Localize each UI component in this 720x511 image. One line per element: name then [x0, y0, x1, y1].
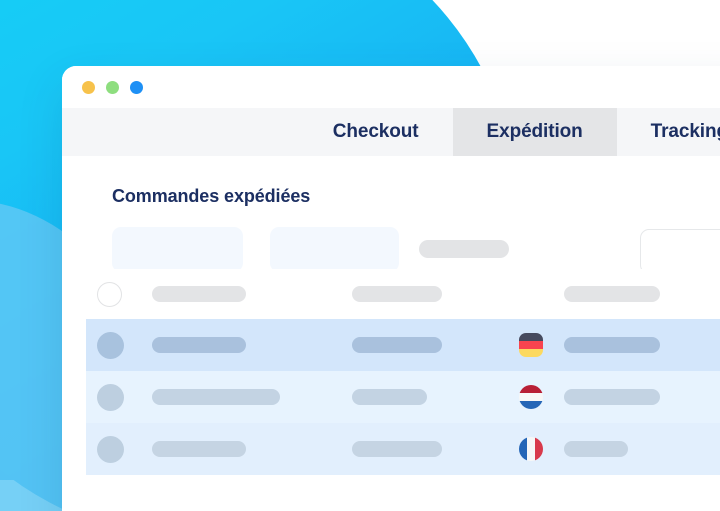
header-cell-c: [564, 286, 720, 302]
maximize-dot[interactable]: [106, 81, 119, 94]
row-cell-c: [564, 337, 720, 353]
row-cell-c: [564, 389, 720, 405]
tab-bar: Checkout Expédition Tracking: [62, 108, 720, 156]
table-header-row: [86, 269, 720, 319]
flag-netherlands-icon: [519, 385, 564, 409]
header-cell-b: [352, 286, 519, 302]
tab-expedition[interactable]: Expédition: [453, 108, 617, 156]
tab-expedition-label: Expédition: [487, 121, 583, 143]
table-row[interactable]: [86, 371, 720, 423]
orders-table: [62, 269, 720, 475]
tab-tracking-label: Tracking: [651, 121, 720, 143]
row-cell-b: [352, 389, 519, 405]
page-title: Commandes expédiées: [62, 156, 720, 207]
row-checkbox-cell: [86, 436, 152, 463]
flag-france-icon: [519, 437, 564, 461]
flag-germany-icon: [519, 333, 564, 357]
row-cell-c: [564, 441, 720, 457]
select-all-checkbox-cell: [86, 282, 152, 307]
avatar: [97, 436, 124, 463]
tab-tracking[interactable]: Tracking: [617, 108, 720, 156]
select-all-checkbox[interactable]: [97, 282, 122, 307]
row-cell-a: [152, 337, 352, 353]
header-cell-a: [152, 286, 352, 302]
row-cell-a: [152, 441, 352, 457]
row-cell-b: [352, 441, 519, 457]
row-cell-b: [352, 337, 519, 353]
avatar: [97, 332, 124, 359]
row-cell-a: [152, 389, 352, 405]
filter-dropdown-two[interactable]: [270, 227, 399, 272]
screenshot-stage: Checkout Expédition Tracking Commandes e…: [0, 0, 720, 511]
minimize-dot[interactable]: [82, 81, 95, 94]
avatar: [97, 384, 124, 411]
tab-checkout-label: Checkout: [333, 121, 419, 143]
filter-chip[interactable]: [419, 240, 509, 258]
table-fade-overlay: [62, 482, 720, 511]
browser-window: Checkout Expédition Tracking Commandes e…: [62, 66, 720, 511]
row-checkbox-cell: [86, 332, 152, 359]
table-row[interactable]: [86, 319, 720, 371]
row-checkbox-cell: [86, 384, 152, 411]
window-titlebar: [62, 66, 720, 108]
content-area: Commandes expédiées: [62, 156, 720, 511]
table-row[interactable]: [86, 423, 720, 475]
filter-dropdown-one[interactable]: [112, 227, 243, 272]
filter-toolbar: [62, 207, 720, 269]
close-dot[interactable]: [130, 81, 143, 94]
tab-checkout[interactable]: Checkout: [299, 108, 453, 156]
search-input[interactable]: [640, 229, 720, 274]
